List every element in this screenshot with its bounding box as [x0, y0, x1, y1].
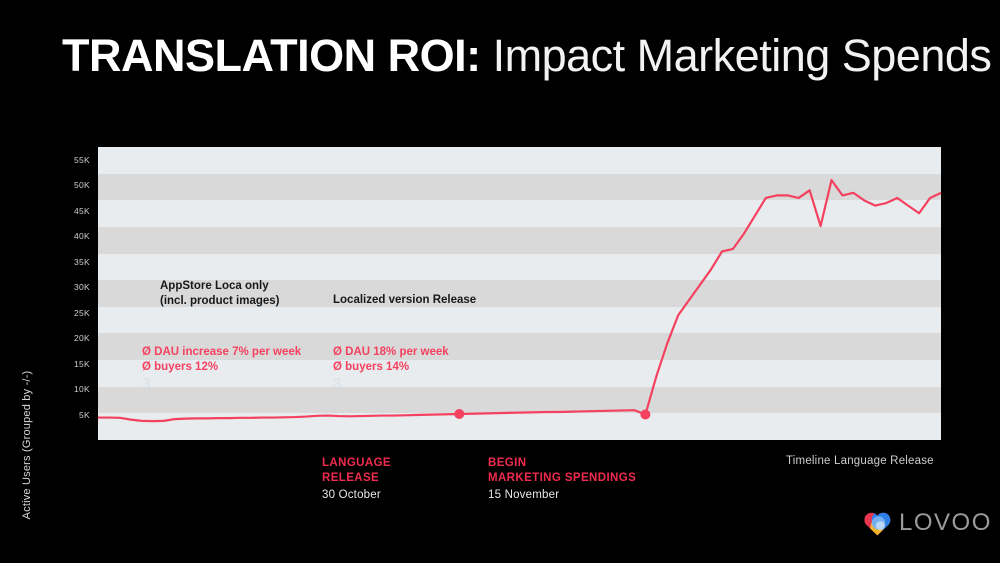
annotation-phase2-stat-line1: Ø DAU 18% per week	[333, 345, 449, 360]
annotation-phase1-title: AppStore Loca only (incl. product images…	[160, 279, 280, 308]
annotation-phase1-stat-line2: Ø buyers 12%	[142, 360, 301, 375]
annotation-phase1-watermark: 3	[142, 376, 150, 391]
y-axis-tick-label: 25K	[74, 308, 90, 318]
annotation-phase2-title: Localized version Release	[333, 293, 476, 308]
event-label-language-release: LANGUAGE RELEASE 30 October	[322, 456, 391, 501]
event-label-begin-marketing-spendings: BEGIN MARKETING SPENDINGS 15 November	[488, 456, 636, 501]
annotation-phase2-watermark: 3	[333, 376, 341, 391]
lovoo-wordmark: LOVOO	[899, 511, 992, 535]
lovoo-logo: LOVOO	[862, 508, 992, 538]
y-axis-tick-label: 10K	[74, 384, 90, 394]
event-date: 30 October	[322, 489, 391, 501]
annotation-phase1-stat-line1: Ø DAU increase 7% per week	[142, 345, 301, 360]
event-title-line2: RELEASE	[322, 471, 391, 486]
page-title-light: Impact Marketing Spends	[481, 30, 992, 81]
event-title-line1: BEGIN	[488, 456, 636, 471]
y-axis-tick-label: 50K	[74, 180, 90, 190]
y-axis-title: Active Users (Grouped by -/-)	[21, 330, 33, 560]
annotation-phase1-title-line1: AppStore Loca only	[160, 279, 280, 294]
event-date: 15 November	[488, 489, 636, 501]
annotation-phase1-stats: Ø DAU increase 7% per week Ø buyers 12%	[142, 345, 301, 376]
annotation-phase1-title-line2: (incl. product images)	[160, 294, 280, 309]
y-axis-tick-label: 35K	[74, 257, 90, 267]
annotation-phase2-stat-line2: Ø buyers 14%	[333, 360, 449, 375]
series-event-marker	[454, 409, 464, 419]
y-axis-tick-label: 40K	[74, 231, 90, 241]
y-axis: Active Users (Grouped by -/-) 5K10K15K20…	[0, 147, 98, 440]
y-axis-tick-label: 45K	[74, 206, 90, 216]
lovoo-heart-icon	[862, 508, 892, 538]
annotation-phase2-title-text: Localized version Release	[333, 293, 476, 308]
y-axis-tick-label: 30K	[74, 282, 90, 292]
event-title-line1: LANGUAGE	[322, 456, 391, 471]
timeline-axis-note: Timeline Language Release	[786, 455, 934, 467]
event-title-line2: MARKETING SPENDINGS	[488, 471, 636, 486]
page-title: TRANSLATION ROI: Impact Marketing Spends	[62, 30, 991, 82]
y-axis-tick-label: 20K	[74, 333, 90, 343]
page-title-strong: TRANSLATION ROI:	[62, 30, 481, 81]
y-axis-tick-label: 15K	[74, 359, 90, 369]
series-event-marker	[640, 410, 650, 420]
y-axis-tick-label: 5K	[79, 410, 90, 420]
chart-plot-area: AppStore Loca only (incl. product images…	[98, 147, 941, 440]
slide: TRANSLATION ROI: Impact Marketing Spends…	[0, 0, 1000, 563]
annotation-phase2-stats: Ø DAU 18% per week Ø buyers 14%	[333, 345, 449, 376]
y-axis-tick-label: 55K	[74, 155, 90, 165]
